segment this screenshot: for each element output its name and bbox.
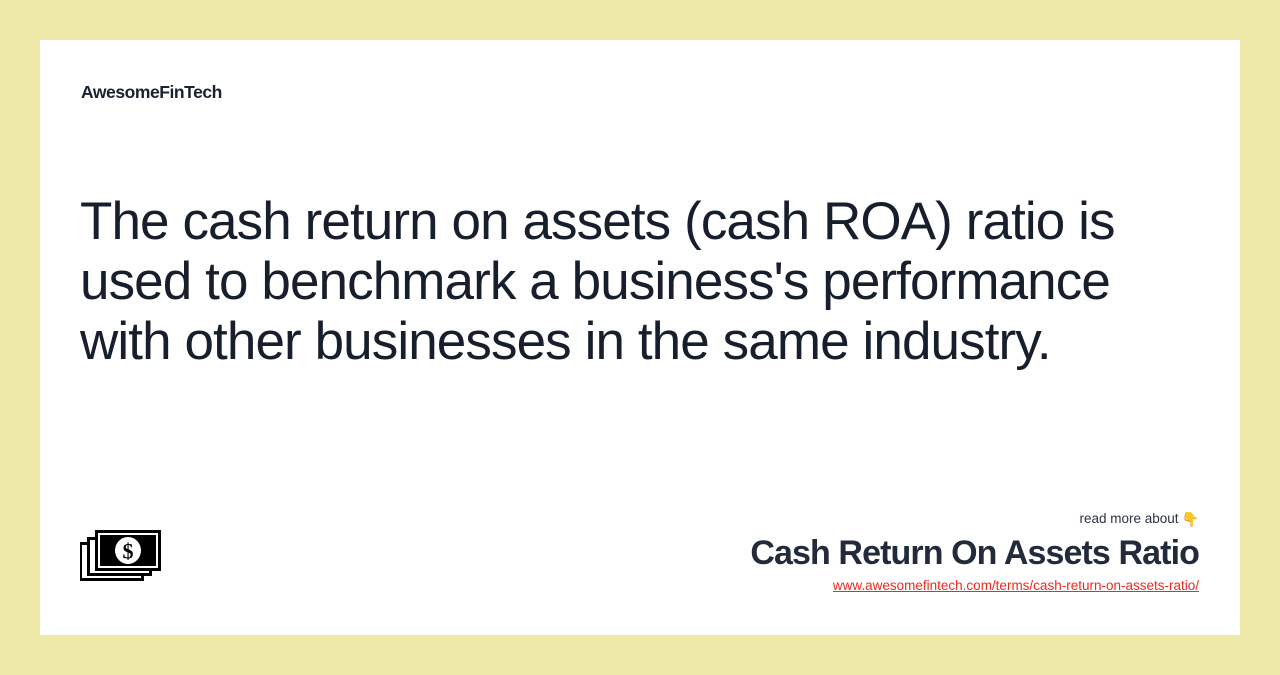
card-footer: $ read more about👇 Cash Return On Assets…	[40, 505, 1240, 635]
content-card: AwesomeFinTech The cash return on assets…	[40, 40, 1240, 635]
headline-text: The cash return on assets (cash ROA) rat…	[80, 192, 1205, 372]
footer-link-block: read more about👇 Cash Return On Assets R…	[499, 512, 1199, 595]
banknotes-icon: $	[80, 529, 162, 583]
read-more-row: read more about👇	[499, 512, 1199, 526]
svg-text:$: $	[123, 539, 134, 564]
term-title: Cash Return On Assets Ratio	[499, 535, 1199, 572]
brand-logo-text: AwesomeFinTech	[81, 84, 222, 102]
read-more-label: read more about	[1080, 511, 1179, 526]
poster-canvas: AwesomeFinTech The cash return on assets…	[0, 0, 1280, 675]
term-url-link[interactable]: www.awesomefintech.com/terms/cash-return…	[833, 579, 1199, 593]
pointing-down-icon: 👇	[1182, 511, 1199, 527]
